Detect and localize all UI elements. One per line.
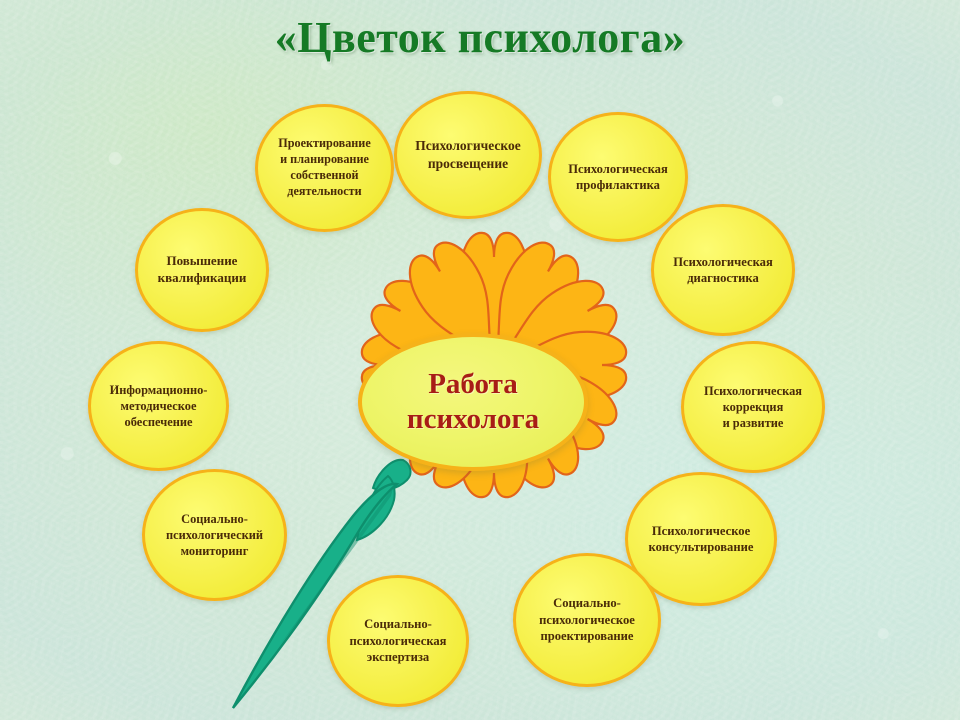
bubble-psychological-diagnostics[interactable]: Психологическая диагностика xyxy=(651,204,795,336)
bubble-information-methodical-support[interactable]: Информационно- методическое обеспечение xyxy=(88,341,229,471)
bubble-line: коррекция xyxy=(704,399,802,415)
bubble-line: мониторинг xyxy=(166,543,263,559)
bubble-line: обеспечение xyxy=(110,414,208,430)
bubble-socio-psychological-monitoring[interactable]: Социально- психологический мониторинг xyxy=(142,469,287,601)
bubble-line: диагностика xyxy=(673,270,773,286)
bubble-psychological-correction[interactable]: Психологическая коррекция и развитие xyxy=(681,341,825,473)
bubble-line: Психологическая xyxy=(568,161,668,177)
bubble-line: проектирование xyxy=(539,628,635,644)
bubble-line: собственной xyxy=(278,168,371,184)
bubble-line: просвещение xyxy=(415,155,520,173)
bubble-socio-psychological-design[interactable]: Социально- психологическое проектировани… xyxy=(513,553,661,687)
bubble-line: Повышение xyxy=(158,253,247,270)
bubble-line: психологический xyxy=(166,527,263,543)
bubble-line: Информационно- xyxy=(110,382,208,398)
bubble-psychological-prevention[interactable]: Психологическая профилактика xyxy=(548,112,688,242)
bubble-design-and-planning[interactable]: Проектирование и планирование собственно… xyxy=(255,104,394,232)
flower-diagram-slide: «Цветок психолога» xyxy=(0,0,960,720)
bubble-line: Психологическое xyxy=(649,523,754,539)
bubble-professional-development[interactable]: Повышение квалификации xyxy=(135,208,269,332)
bubble-line: Психологическая xyxy=(704,383,802,399)
bubble-line: деятельности xyxy=(278,184,371,200)
bubble-psychological-education[interactable]: Психологическое просвещение xyxy=(394,91,542,219)
center-label: Работа психолога xyxy=(358,333,588,471)
bubble-line: экспертиза xyxy=(350,649,447,665)
bubble-line: Проектирование xyxy=(278,136,371,152)
center-label-line-1: Работа xyxy=(428,367,518,402)
page-title: «Цветок психолога» xyxy=(0,12,960,63)
bubble-line: Социально- xyxy=(539,595,635,611)
bubble-line: Психологическая xyxy=(673,254,773,270)
bubble-line: методическое xyxy=(110,398,208,414)
bubble-socio-psychological-expertise[interactable]: Социально- психологическая экспертиза xyxy=(327,575,469,707)
bubble-line: и развитие xyxy=(704,415,802,431)
bubble-line: психологическое xyxy=(539,612,635,628)
bubble-line: профилактика xyxy=(568,177,668,193)
bubble-line: Психологическое xyxy=(415,137,520,155)
bubble-line: психологическая xyxy=(350,633,447,649)
bubble-line: Социально- xyxy=(350,616,447,632)
bubble-line: квалификации xyxy=(158,270,247,287)
center-label-line-2: психолога xyxy=(407,402,539,437)
bubble-line: консультирование xyxy=(649,539,754,555)
bubble-line: Социально- xyxy=(166,511,263,527)
bubble-line: и планирование xyxy=(278,152,371,168)
